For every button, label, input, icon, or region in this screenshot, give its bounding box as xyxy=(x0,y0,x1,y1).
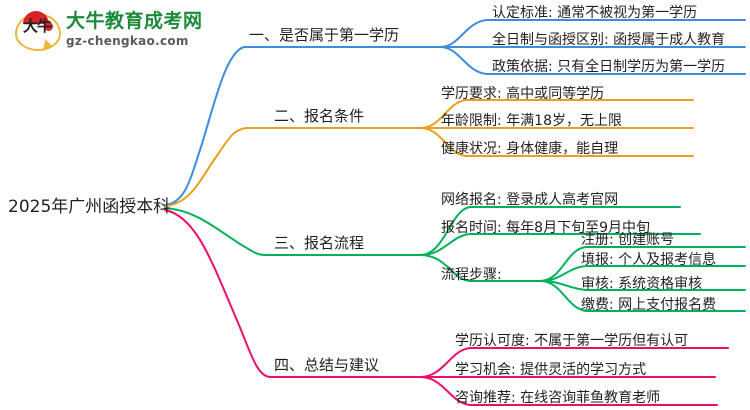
mindmap-branch-2-child-2-label[interactable]: 年龄限制: 年满18岁，无上限 xyxy=(441,114,622,128)
mindmap-branch-4-child-3-label[interactable]: 咨询推荐: 在线咨询菲鱼教育老师 xyxy=(455,391,660,405)
mindmap-step-3-label[interactable]: 审核: 系统资格审核 xyxy=(581,277,702,291)
mindmap-branch-2-label[interactable]: 二、报名条件 xyxy=(274,109,364,124)
mindmap-branch-3-child-1-label[interactable]: 网络报名: 登录成人高考官网 xyxy=(441,193,618,207)
mindmap-root-node[interactable]: 2025年广州函授本科 xyxy=(8,199,170,216)
mindmap-branch-4-label[interactable]: 四、总结与建议 xyxy=(274,358,379,373)
mindmap-branch-2-child-3-label[interactable]: 健康状况: 身体健康，能自理 xyxy=(441,142,618,156)
mindmap-branch-1-child-2-label[interactable]: 全日制与函授区别: 函授属于成人教育 xyxy=(492,33,725,47)
mindmap-branch-2-child-1-label[interactable]: 学历要求: 高中或同等学历 xyxy=(441,87,604,101)
mindmap-step-4-label[interactable]: 缴费: 网上支付报名费 xyxy=(581,298,716,312)
mindmap-step-1-label[interactable]: 注册: 创建账号 xyxy=(581,233,674,247)
mindmap-branch-4-child-1-label[interactable]: 学历认可度: 不属于第一学历但有认可 xyxy=(455,334,688,348)
connector-branch-1 xyxy=(165,47,440,205)
mindmap-branch-4-child-2-label[interactable]: 学习机会: 提供灵活的学习方式 xyxy=(455,363,646,377)
mindmap-branch-3-label[interactable]: 三、报名流程 xyxy=(274,236,364,251)
mindmap-branch-1-child-3-label[interactable]: 政策依据: 只有全日制学历为第一学历 xyxy=(492,60,725,74)
mindmap-branch-3-child-3-label[interactable]: 流程步骤: xyxy=(441,268,502,282)
mindmap-branch-1-label[interactable]: 一、是否属于第一学历 xyxy=(249,28,399,43)
mindmap-branch-1-child-1-label[interactable]: 认定标准: 通常不被视为第一学历 xyxy=(492,6,697,20)
mindmap-step-2-label[interactable]: 填报: 个人及报考信息 xyxy=(581,253,716,267)
